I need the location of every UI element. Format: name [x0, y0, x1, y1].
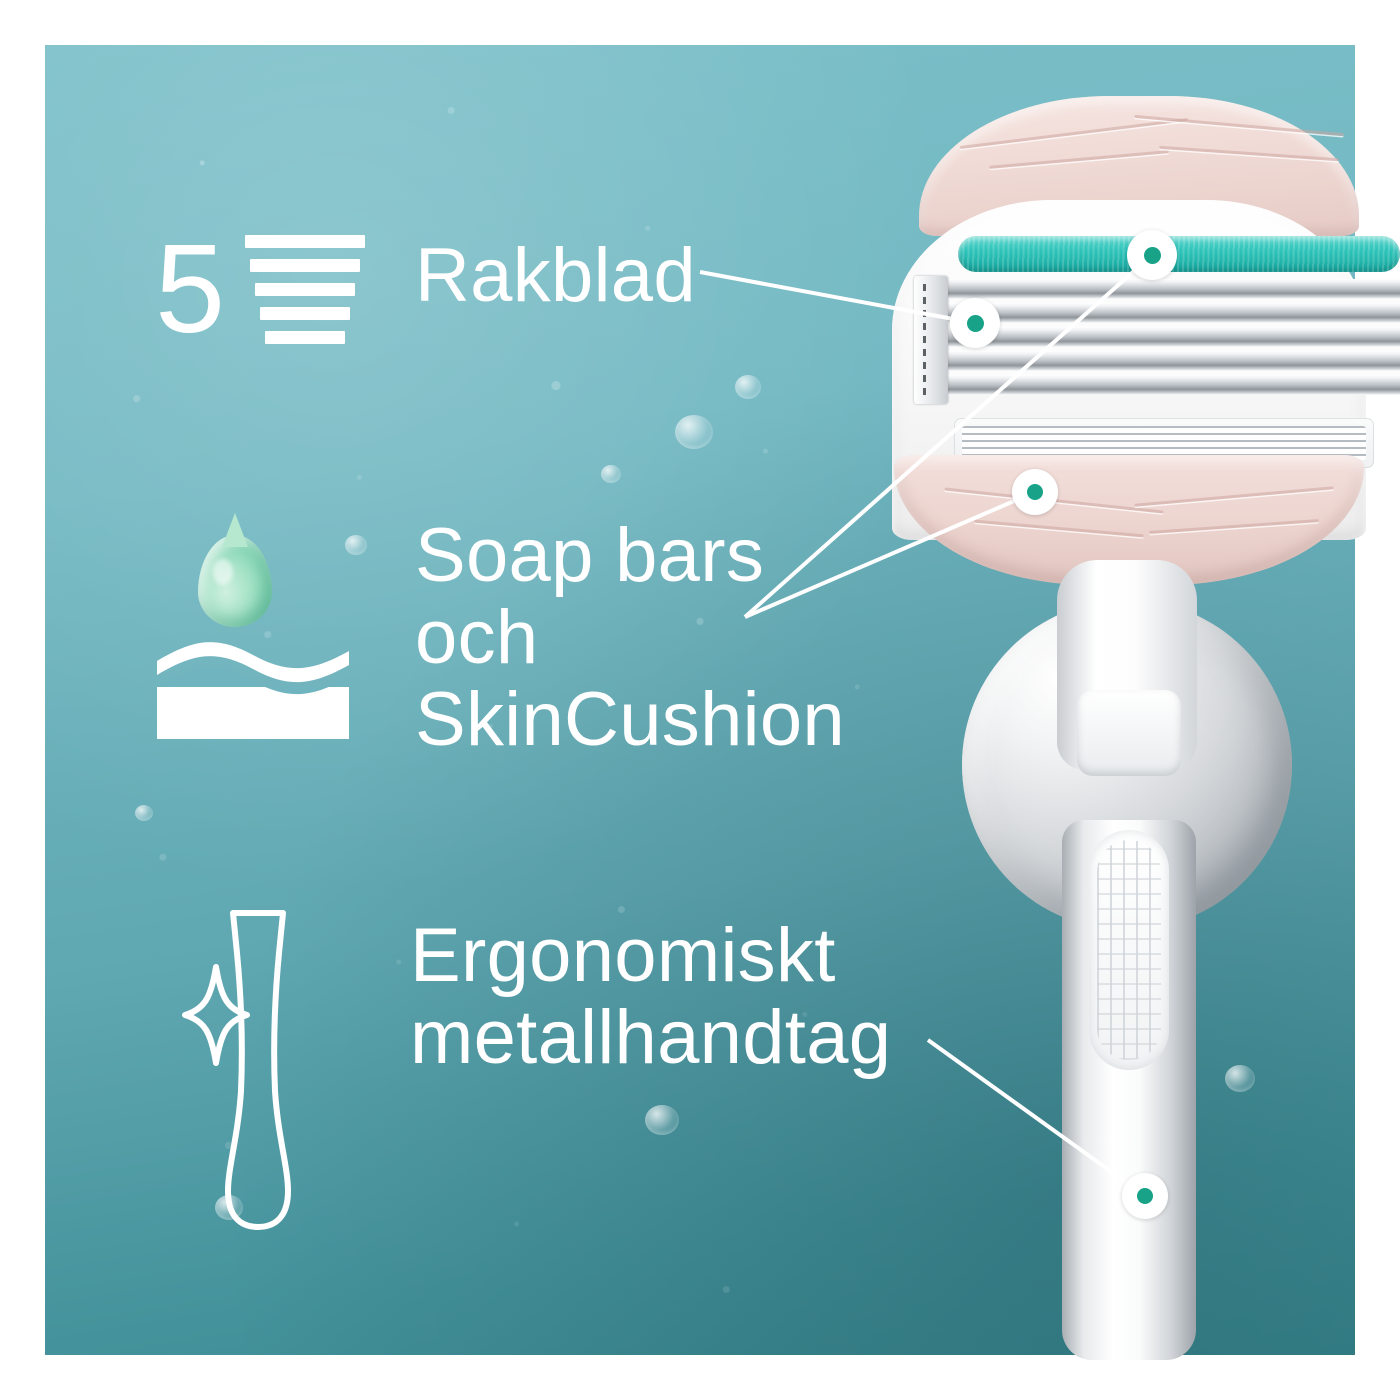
callout-dot-cushion[interactable]: [1012, 469, 1058, 515]
water-droplet: [135, 805, 153, 821]
callout-dot-lubrication-strip[interactable]: [1127, 230, 1177, 280]
water-droplet: [645, 1105, 679, 1135]
feature-blades-label: Rakblad: [415, 235, 696, 317]
lubrication-strip: [958, 236, 1400, 272]
water-droplet: [675, 415, 713, 449]
callout-dot-handle[interactable]: [1122, 1173, 1168, 1219]
water-droplet: [735, 375, 761, 399]
water-droplet: [345, 535, 367, 555]
feature-soap-label: Soap bars och SkinCushion: [415, 515, 845, 761]
grip-pad: [1089, 830, 1169, 1070]
callout-dot-blades[interactable]: [950, 298, 1000, 348]
razor-illustration: [862, 0, 1362, 1356]
product-feature-callout-image: 5 Rakblad Soap bars och SkinCushion: [0, 0, 1400, 1400]
ergonomic-handle-icon: [175, 905, 345, 1235]
blade-stack: [926, 279, 1400, 401]
skin-cushion-icon: [153, 635, 353, 745]
gel-droplet-icon: [198, 535, 272, 627]
feature-handle-label: Ergonomiskt metallhandtag: [410, 915, 891, 1079]
five-blades-icon: 5: [155, 230, 245, 350]
blade-bars-icon: [245, 235, 365, 355]
water-droplet: [601, 465, 621, 483]
release-button: [1077, 690, 1181, 776]
blade-clip: [914, 276, 948, 404]
